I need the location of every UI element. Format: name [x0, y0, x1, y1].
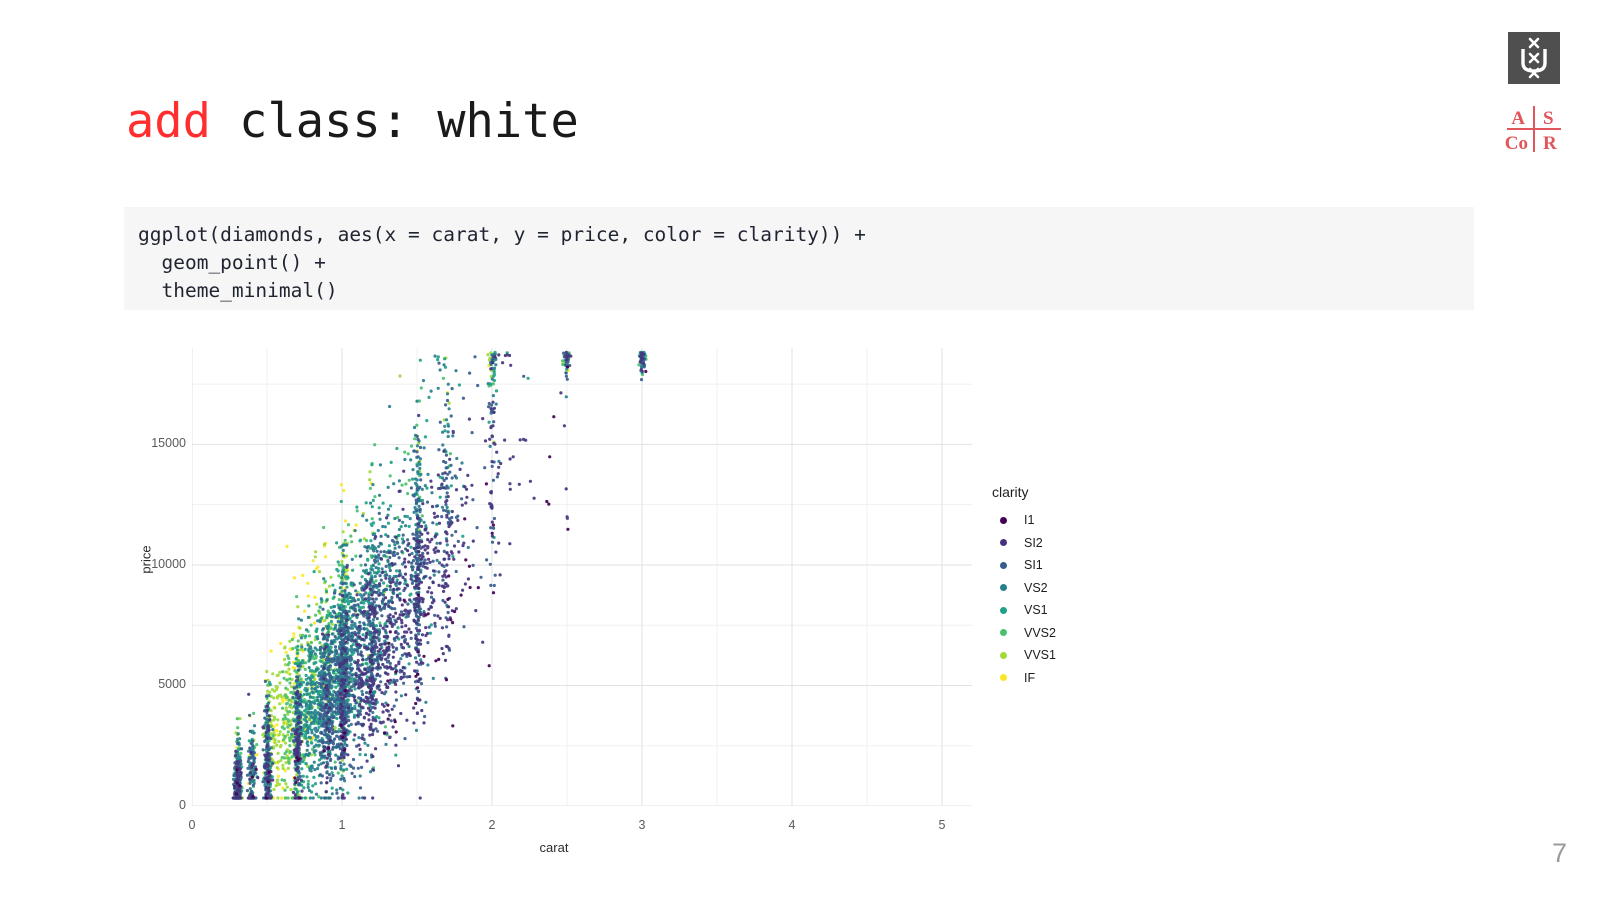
svg-text:A: A — [1511, 108, 1525, 129]
legend-item-vs1: VS1 — [992, 599, 1122, 622]
legend-item-label: I1 — [1024, 513, 1034, 527]
legend-items: I1SI2SI1VS2VS1VVS2VVS1IF — [992, 509, 1122, 689]
svg-text:S: S — [1543, 108, 1554, 129]
legend-item-i1: I1 — [992, 509, 1122, 532]
x-tick-label: 5 — [922, 818, 962, 832]
legend-key-icon — [992, 674, 1014, 681]
legend-item-label: VVS2 — [1024, 626, 1056, 640]
legend-dot-icon — [1000, 607, 1007, 614]
legend-item-vs2: VS2 — [992, 577, 1122, 600]
svg-text:R: R — [1543, 133, 1557, 154]
legend-item-label: IF — [1024, 671, 1035, 685]
x-tick-label: 1 — [322, 818, 362, 832]
x-tick-label: 0 — [172, 818, 212, 832]
legend-item-vvs2: VVS2 — [992, 622, 1122, 645]
legend-dot-icon — [1000, 584, 1007, 591]
x-tick-label: 3 — [622, 818, 662, 832]
page-title-keyword: add — [126, 94, 211, 149]
legend-key-icon — [992, 629, 1014, 636]
legend-item-label: VS2 — [1024, 581, 1048, 595]
scatter-points — [232, 351, 648, 800]
code-block: ggplot(diamonds, aes(x = carat, y = pric… — [124, 207, 1474, 310]
y-tick-label: 10000 — [130, 557, 186, 571]
legend-item-if: IF — [992, 667, 1122, 690]
scatter-plot-svg — [192, 348, 972, 806]
legend-item-si1: SI1 — [992, 554, 1122, 577]
y-tick-label: 15000 — [130, 436, 186, 450]
ascor-logo: A S Co R — [1503, 104, 1565, 154]
page-title-rest: class: white — [211, 94, 579, 149]
legend-key-icon — [992, 584, 1014, 591]
legend-item-vvs1: VVS1 — [992, 644, 1122, 667]
legend-item-label: SI1 — [1024, 558, 1043, 572]
legend-dot-icon — [1000, 562, 1007, 569]
legend-key-icon — [992, 562, 1014, 569]
y-tick-label: 0 — [130, 798, 186, 812]
legend-key-icon — [992, 652, 1014, 659]
legend-key-icon — [992, 607, 1014, 614]
legend-dot-icon — [1000, 539, 1007, 546]
legend-key-icon — [992, 517, 1014, 524]
legend-key-icon — [992, 539, 1014, 546]
x-axis-title: carat — [124, 840, 984, 855]
legend-title: clarity — [992, 484, 1122, 500]
x-tick-label: 4 — [772, 818, 812, 832]
page-title: add class: white — [126, 96, 579, 148]
plot-panel — [192, 348, 972, 806]
legend-item-label: VVS1 — [1024, 648, 1056, 662]
legend-item-label: SI2 — [1024, 536, 1043, 550]
code-text: ggplot(diamonds, aes(x = carat, y = pric… — [138, 221, 1458, 305]
legend: clarity I1SI2SI1VS2VS1VVS2VVS1IF — [992, 484, 1122, 689]
y-tick-label: 5000 — [130, 677, 186, 691]
legend-dot-icon — [1000, 674, 1007, 681]
legend-dot-icon — [1000, 629, 1007, 636]
legend-dot-icon — [1000, 517, 1007, 524]
svg-text:Co: Co — [1505, 133, 1528, 154]
uva-logo — [1508, 32, 1560, 84]
series-si1 — [232, 352, 646, 800]
page-number: 7 — [1552, 838, 1567, 869]
legend-item-si2: SI2 — [992, 532, 1122, 555]
legend-dot-icon — [1000, 652, 1007, 659]
uva-shield-icon — [1508, 32, 1560, 84]
legend-item-label: VS1 — [1024, 603, 1048, 617]
ascor-mark-icon: A S Co R — [1503, 104, 1565, 154]
x-tick-label: 2 — [472, 818, 512, 832]
